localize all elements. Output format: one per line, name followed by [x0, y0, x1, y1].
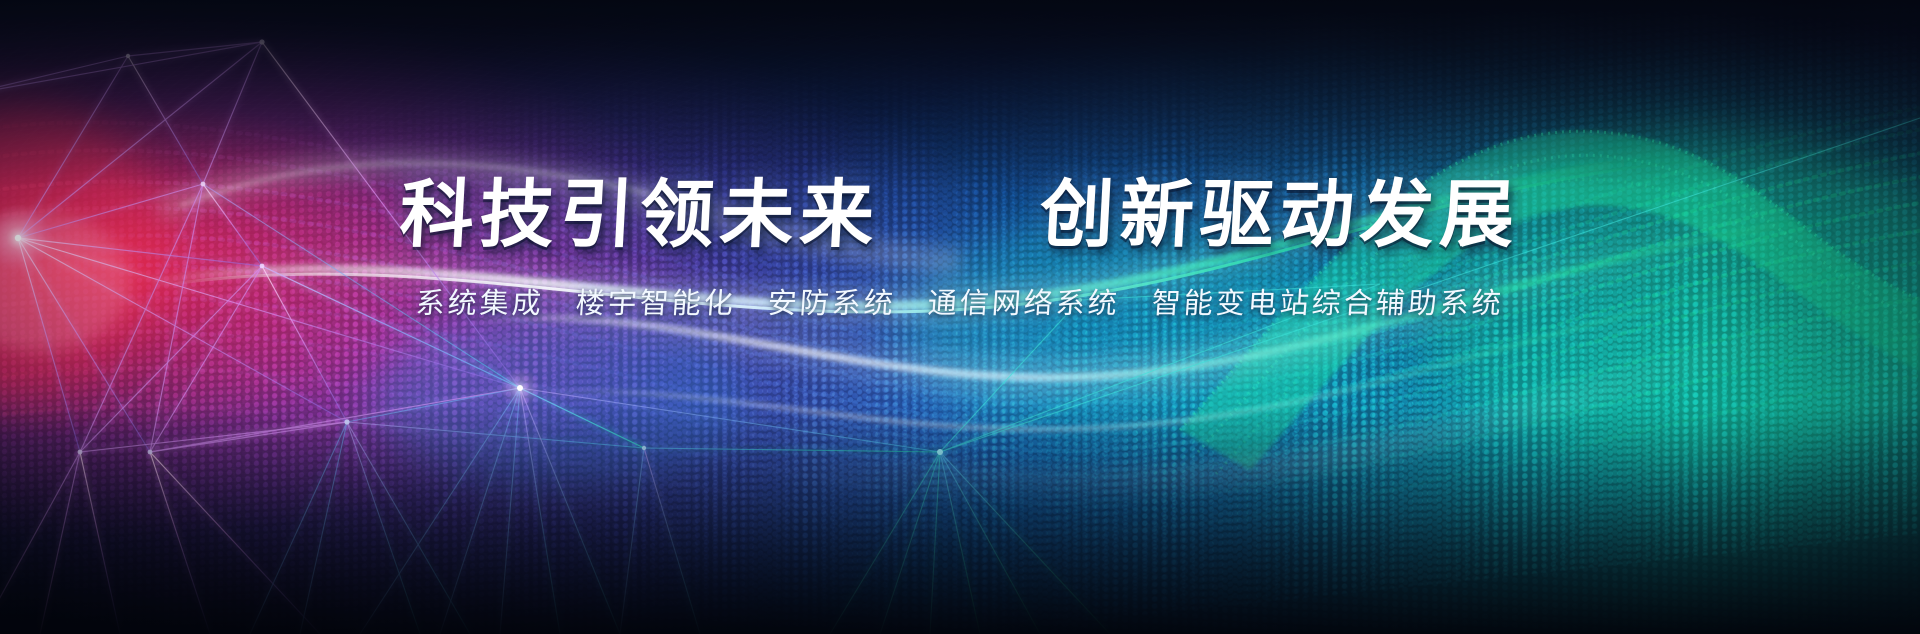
banner-copy: 科技引领未来 创新驱动发展 系统集成 楼宇智能化 安防系统 通信网络系统 智能变…	[0, 176, 1920, 322]
subtitle-services: 系统集成 楼宇智能化 安防系统 通信网络系统 智能变电站综合辅助系统	[0, 280, 1920, 322]
network-lines-left	[0, 42, 520, 634]
page-title: 科技引领未来 创新驱动发展	[0, 176, 1920, 254]
hero-banner: 科技引领未来 创新驱动发展 系统集成 楼宇智能化 安防系统 通信网络系统 智能变…	[0, 0, 1920, 634]
